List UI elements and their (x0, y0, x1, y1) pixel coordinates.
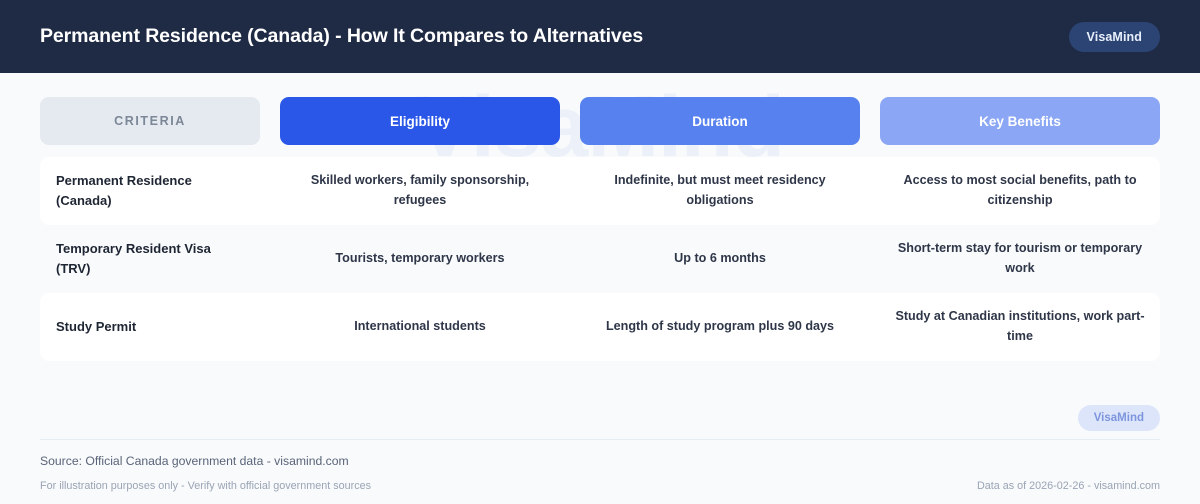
footer-bottom-row: For illustration purposes only - Verify … (40, 480, 1160, 504)
column-header-eligibility[interactable]: Eligibility (280, 97, 560, 145)
column-header-duration[interactable]: Duration (580, 97, 860, 145)
footer-divider (40, 439, 1160, 440)
page-title: Permanent Residence (Canada) - How It Co… (40, 25, 643, 48)
footer-source-text: Source: Official Canada government data … (40, 454, 1160, 480)
table-header-row: CRITERIA Eligibility Duration Key Benefi… (40, 97, 1160, 145)
table-body: Permanent Residence (Canada) Skilled wor… (40, 157, 1160, 361)
cell-duration: Indefinite, but must meet residency obli… (580, 159, 860, 222)
comparison-table: CRITERIA Eligibility Duration Key Benefi… (0, 73, 1200, 361)
cell-duration: Up to 6 months (580, 237, 860, 281)
cell-key-benefits: Short-term stay for tourism or temporary… (880, 227, 1160, 290)
cell-criteria: Permanent Residence (Canada) (40, 159, 260, 223)
column-header-key-benefits[interactable]: Key Benefits (880, 97, 1160, 145)
table-row[interactable]: Permanent Residence (Canada) Skilled wor… (40, 157, 1160, 225)
page-footer: VisaMind Source: Official Canada governm… (0, 405, 1200, 504)
cell-duration: Length of study program plus 90 days (580, 305, 860, 349)
footer-badge-row: VisaMind (40, 405, 1160, 439)
cell-eligibility: Skilled workers, family sponsorship, ref… (280, 159, 560, 222)
table-row[interactable]: Study Permit International students Leng… (40, 293, 1160, 361)
cell-key-benefits: Study at Canadian institutions, work par… (880, 295, 1160, 358)
column-header-criteria[interactable]: CRITERIA (40, 97, 260, 145)
cell-key-benefits: Access to most social benefits, path to … (880, 159, 1160, 222)
footer-disclaimer: For illustration purposes only - Verify … (40, 480, 371, 492)
footer-data-date: Data as of 2026-02-26 - visamind.com (977, 480, 1160, 492)
cell-eligibility: Tourists, temporary workers (280, 237, 560, 281)
brand-badge: VisaMind (1069, 22, 1160, 52)
footer-brand-badge: VisaMind (1078, 405, 1160, 431)
cell-criteria: Temporary Resident Visa (TRV) (40, 227, 260, 291)
table-row[interactable]: Temporary Resident Visa (TRV) Tourists, … (40, 225, 1160, 293)
comparison-infographic: Permanent Residence (Canada) - How It Co… (0, 0, 1200, 504)
page-header: Permanent Residence (Canada) - How It Co… (0, 0, 1200, 73)
cell-criteria: Study Permit (40, 305, 260, 349)
cell-eligibility: International students (280, 305, 560, 349)
